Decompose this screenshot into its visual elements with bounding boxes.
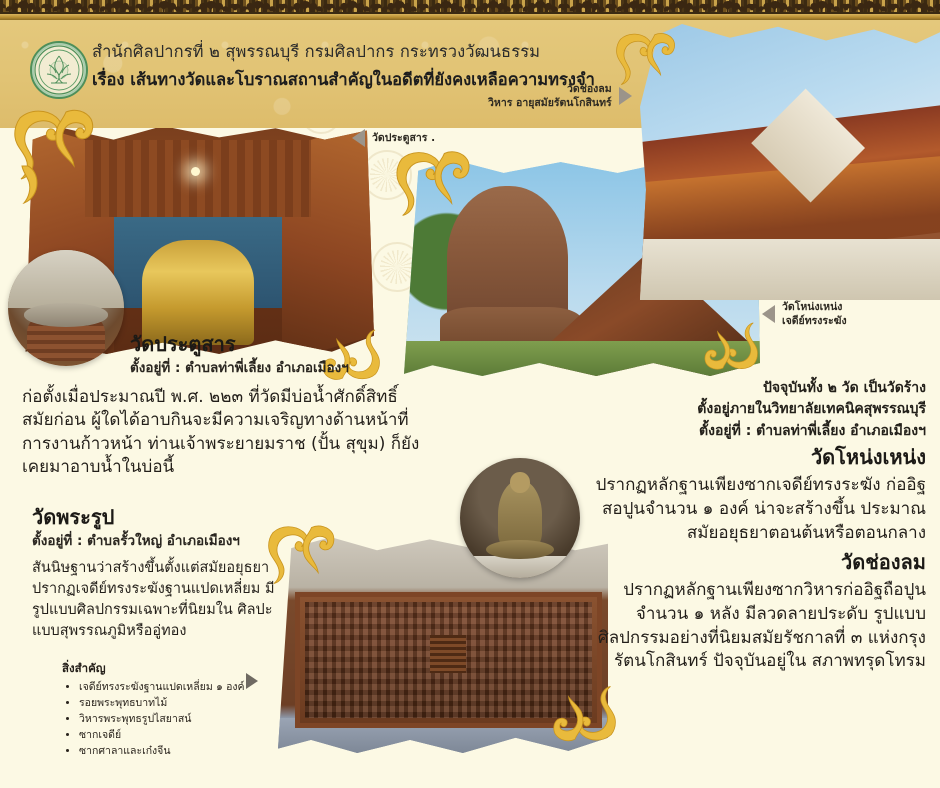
section-title: วัดโหน่งเหน่ง: [578, 445, 926, 470]
section-title: วัดพระรูป: [32, 505, 290, 530]
caption-wat-chonglom-header: วัดช่องลม วิหาร อายุสมัยรัตนโกสินทร์: [488, 82, 632, 110]
panel-frame: [295, 592, 602, 728]
section-wat-chonglom: วัดช่องลม ปรากฏหลักฐานเพียงซากวิหารก่ออิ…: [578, 550, 926, 674]
section-location: ตั้งอยู่ที่ : ตำบลรั้วใหญ่ อำเภอเมืองฯ: [32, 532, 290, 551]
buddha-head: [510, 472, 529, 492]
well-rim: [24, 303, 108, 326]
key-features-title: สิ่งสำคัญ: [62, 660, 272, 678]
thai-ornamental-top-border: [0, 0, 940, 20]
caption-wat-nongneng: วัดโหน่งเหน่ง เจดีย์ทรงระฆัง: [762, 300, 847, 328]
key-feature-item: วิหารพระพุทธรูปไสยาสน์: [79, 712, 272, 728]
display-base: [460, 556, 580, 578]
coffered-ceiling: [85, 140, 310, 218]
key-feature-item: เจดีย์ทรงระฆังฐานแปดเหลี่ยม ๑ องค์: [79, 680, 272, 696]
triangle-pointer-left-icon: [352, 129, 365, 147]
caption-label: วัดประตูสาร .: [372, 131, 435, 145]
section-body: ปรากฏหลักฐานเพียงซากเจดีย์ทรงระฆัง ก่ออิ…: [578, 474, 926, 545]
hanging-lamp: [191, 167, 200, 176]
triangle-pointer-right-icon: [619, 87, 632, 105]
buddha-altar: [142, 240, 255, 345]
caption-line-1: วัดโหน่งเหน่ง: [782, 301, 842, 313]
buddha-lap: [486, 540, 553, 559]
status-line-3: ตั้งอยู่ที่ : ตำบลท่าพี่เลี้ยง อำเภอเมือ…: [580, 421, 926, 442]
triangle-pointer-right-icon: [246, 673, 258, 689]
carved-stair-motif: [430, 635, 466, 673]
list-pointer-arrow: [246, 673, 258, 689]
fine-arts-department-seal: [30, 41, 88, 99]
caption-label: วัดช่องลม วิหาร อายุสมัยรัตนโกสินทร์: [488, 82, 612, 110]
grass-ground: [404, 341, 760, 376]
caption-line-2: วิหาร อายุสมัยรัตนโกสินทร์: [488, 97, 612, 109]
section-wat-nongneng: วัดโหน่งเหน่ง ปรากฏหลักฐานเพียงซากเจดีย์…: [578, 445, 926, 545]
border-gold-strip: [0, 14, 940, 20]
temple-wall-shape: [640, 239, 940, 300]
section-body: สันนิษฐานว่าสร้างขึ้นตั้งแต่สมัยอยุธยา ป…: [32, 558, 290, 642]
seated-buddha-photo: [460, 458, 580, 578]
section-body: ก่อตั้งเมื่อประมาณปี พ.ศ. ๒๒๓ ที่วัดมีบ่…: [22, 386, 420, 480]
header-temple-photo: [640, 24, 940, 300]
section-title: วัดช่องลม: [578, 550, 926, 575]
section-current-status: ปัจจุบันทั้ง ๒ วัด เป็นวัดร้าง ตั้งอยู่ภ…: [580, 378, 926, 442]
key-feature-item: รอยพระพุทธบาทไม้: [79, 696, 272, 712]
caption-line-2: เจดีย์ทรงระฆัง: [782, 315, 847, 327]
section-wat-pratusan: วัดประตูสาร ตั้งอยู่ที่ : ตำบลท่าพี่เลี้…: [22, 332, 420, 480]
key-feature-item: ซากเจดีย์: [79, 728, 272, 744]
status-line-2: ตั้งอยู่ภายในวิทยาลัยเทคนิคสุพรรณบุรี: [580, 399, 926, 420]
section-location: ตั้งอยู่ที่ : ตำบลท่าพี่เลี้ยง อำเภอเมือ…: [130, 359, 420, 378]
section-title: วัดประตูสาร: [130, 332, 420, 357]
key-features-list: สิ่งสำคัญ เจดีย์ทรงระฆังฐานแปดเหลี่ยม ๑ …: [62, 660, 272, 760]
infographic-poster: สำนักศิลปากรที่ ๒ สุพรรณบุรี กรมศิลปากร …: [0, 0, 940, 788]
caption-line-1: วัดช่องลม: [567, 83, 612, 95]
status-line-1: ปัจจุบันทั้ง ๒ วัด เป็นวัดร้าง: [580, 378, 926, 399]
key-feature-item: ซากศาลาและเก๋งจีน: [79, 744, 272, 760]
key-features-items: เจดีย์ทรงระฆังฐานแปดเหลี่ยม ๑ องค์รอยพระ…: [62, 680, 272, 760]
dharma-wheel-watermark: [362, 150, 412, 200]
caption-wat-pratusan: วัดประตูสาร .: [352, 129, 435, 147]
section-body: ปรากฏหลักฐานเพียงซากวิหารก่ออิฐถือปูน จำ…: [578, 579, 926, 674]
caption-label: วัดโหน่งเหน่ง เจดีย์ทรงระฆัง: [782, 300, 847, 328]
organization-line: สำนักศิลปากรที่ ๒ สุพรรณบุรี กรมศิลปากร …: [92, 40, 595, 65]
triangle-pointer-left-icon: [762, 305, 775, 323]
section-wat-phrarup: วัดพระรูป ตั้งอยู่ที่ : ตำบลรั้วใหญ่ อำเ…: [22, 505, 290, 642]
well-background: [8, 250, 124, 308]
